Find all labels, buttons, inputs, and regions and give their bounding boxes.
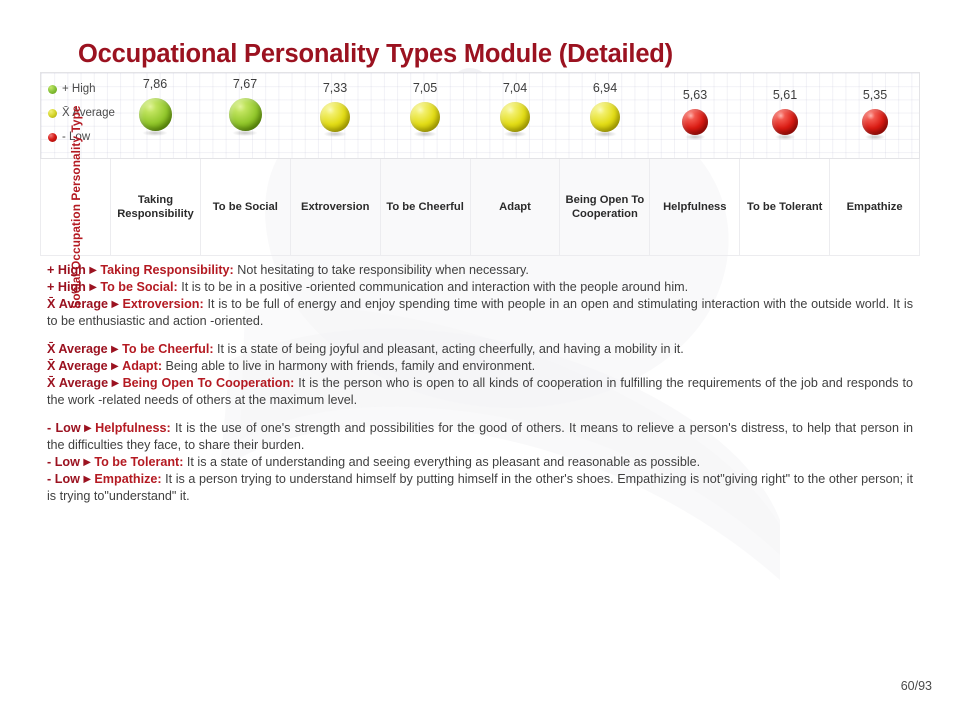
chart-data-point: 7,67 — [200, 72, 290, 159]
description-text: It is to be in a positive -oriented comm… — [178, 280, 688, 294]
axis-category-label: To be Tolerant — [747, 200, 822, 214]
description-text: It is a state of being joyful and pleasa… — [214, 342, 684, 356]
description-level: - Low — [47, 421, 81, 435]
chart-axis-row: Social Occupation Personality Type Takin… — [40, 159, 920, 256]
data-point-value: 7,67 — [233, 78, 257, 91]
description-level: X̄ Average — [47, 359, 108, 373]
description-entry: - Low►Empathize: It is a person trying t… — [47, 471, 913, 504]
chart-data-point: 5,61 — [740, 72, 830, 159]
description-trait: Helpfulness: — [95, 421, 171, 435]
legend-label-high: + High — [62, 83, 96, 95]
description-trait: Taking Responsibility: — [100, 263, 233, 277]
description-entry: X̄ Average►Adapt: Being able to live in … — [47, 358, 913, 375]
data-point-marker-high — [229, 98, 262, 131]
arrow-right-icon: ► — [108, 376, 122, 390]
data-point-marker-high — [139, 98, 172, 131]
description-trait: Being Open To Cooperation: — [123, 376, 295, 390]
description-entry: - Low►Helpfulness: It is the use of one'… — [47, 420, 913, 453]
arrow-right-icon: ► — [86, 263, 100, 277]
arrow-right-icon: ► — [80, 472, 94, 486]
description-level: X̄ Average — [47, 376, 108, 390]
high-dot-icon — [48, 85, 57, 94]
description-text: Not hesitating to take responsibility wh… — [234, 263, 529, 277]
description-level: - Low — [47, 472, 80, 486]
data-point-value: 7,86 — [143, 78, 167, 91]
description-entry: + High►To be Social: It is to be in a po… — [47, 279, 913, 296]
chart-data-point: 7,05 — [380, 72, 470, 159]
arrow-right-icon: ► — [108, 359, 122, 373]
data-point-marker-low — [682, 109, 708, 135]
chart-data-point: 7,86 — [110, 72, 200, 159]
axis-category-label: Being Open To Cooperation — [564, 193, 645, 222]
description-group: + High►Taking Responsibility: Not hesita… — [47, 262, 913, 330]
arrow-right-icon: ► — [108, 342, 122, 356]
description-entry: + High►Taking Responsibility: Not hesita… — [47, 262, 913, 279]
description-trait: Extroversion: — [122, 297, 203, 311]
axis-category-cell: To be Social — [200, 159, 290, 256]
data-point-marker-average — [320, 102, 350, 132]
data-point-marker-average — [500, 102, 530, 132]
description-trait: To be Social: — [100, 280, 177, 294]
description-text: It is a person trying to understand hims… — [47, 472, 913, 503]
axis-category-cell: Helpfulness — [649, 159, 739, 256]
chart-data-point: 7,33 — [290, 72, 380, 159]
chart-data-point: 5,63 — [650, 72, 740, 159]
data-point-marker-low — [772, 109, 798, 135]
data-point-marker-average — [410, 102, 440, 132]
axis-category-label: To be Cheerful — [386, 200, 464, 214]
description-trait: Adapt: — [122, 359, 162, 373]
axis-category-label: Adapt — [499, 200, 531, 214]
arrow-right-icon: ► — [80, 455, 94, 469]
chart-data-points: 7,867,677,337,057,046,945,635,615,35 — [110, 72, 920, 159]
low-dot-icon — [48, 133, 57, 142]
arrow-right-icon: ► — [108, 297, 122, 311]
description-level: + High — [47, 280, 86, 294]
data-point-value: 7,04 — [503, 82, 527, 95]
arrow-right-icon: ► — [81, 421, 95, 435]
description-entry: X̄ Average►Extroversion: It is to be ful… — [47, 296, 913, 329]
description-text: It is the use of one's strength and poss… — [47, 421, 913, 452]
data-point-marker-average — [590, 102, 620, 132]
description-entry: X̄ Average►To be Cheerful: It is a state… — [47, 341, 913, 358]
slide-root: Occupational Personality Types Module (D… — [0, 0, 960, 720]
axis-category-label: Helpfulness — [663, 200, 726, 214]
description-list: + High►Taking Responsibility: Not hesita… — [47, 262, 913, 505]
description-level: + High — [47, 263, 86, 277]
axis-category-cell: To be Cheerful — [380, 159, 470, 256]
chart-data-point: 6,94 — [560, 72, 650, 159]
data-point-value: 5,35 — [863, 89, 887, 102]
description-entry: - Low►To be Tolerant: It is a state of u… — [47, 454, 913, 471]
data-point-value: 7,33 — [323, 82, 347, 95]
page-number: 60/93 — [901, 679, 932, 693]
data-point-value: 7,05 — [413, 82, 437, 95]
chart-data-point: 7,04 — [470, 72, 560, 159]
description-text: It is a state of understanding and seein… — [183, 455, 700, 469]
axis-category-cell: Extroversion — [290, 159, 380, 256]
axis-category-cell: Adapt — [470, 159, 560, 256]
description-level: X̄ Average — [47, 342, 108, 356]
description-trait: Empathize: — [94, 472, 161, 486]
data-point-value: 6,94 — [593, 82, 617, 95]
description-group: X̄ Average►To be Cheerful: It is a state… — [47, 341, 913, 409]
axis-category-label: Taking Responsibility — [115, 193, 196, 222]
chart-container: + High X̄ Average - Low 7,867,677,337,05… — [40, 72, 920, 256]
description-entry: X̄ Average►Being Open To Cooperation: It… — [47, 375, 913, 408]
description-level: - Low — [47, 455, 80, 469]
description-trait: To be Tolerant: — [94, 455, 183, 469]
data-point-value: 5,61 — [773, 89, 797, 102]
arrow-right-icon: ► — [86, 280, 100, 294]
description-trait: To be Cheerful: — [122, 342, 213, 356]
axis-category-label: Empathize — [847, 200, 903, 214]
chart-data-point: 5,35 — [830, 72, 920, 159]
axis-category-label: Extroversion — [301, 200, 369, 214]
data-point-value: 5,63 — [683, 89, 707, 102]
axis-category-cell: Empathize — [829, 159, 920, 256]
axis-category-cell: Being Open To Cooperation — [559, 159, 649, 256]
axis-category-cell: To be Tolerant — [739, 159, 829, 256]
vertical-axis-cell: Social Occupation Personality Type — [40, 159, 110, 256]
data-point-marker-low — [862, 109, 888, 135]
axis-category-cell: Taking Responsibility — [110, 159, 200, 256]
description-text: Being able to live in harmony with frien… — [162, 359, 535, 373]
description-level: X̄ Average — [47, 297, 108, 311]
average-dot-icon — [48, 109, 57, 118]
page-title: Occupational Personality Types Module (D… — [78, 40, 673, 69]
description-group: - Low►Helpfulness: It is the use of one'… — [47, 420, 913, 505]
axis-category-label: To be Social — [213, 200, 278, 214]
